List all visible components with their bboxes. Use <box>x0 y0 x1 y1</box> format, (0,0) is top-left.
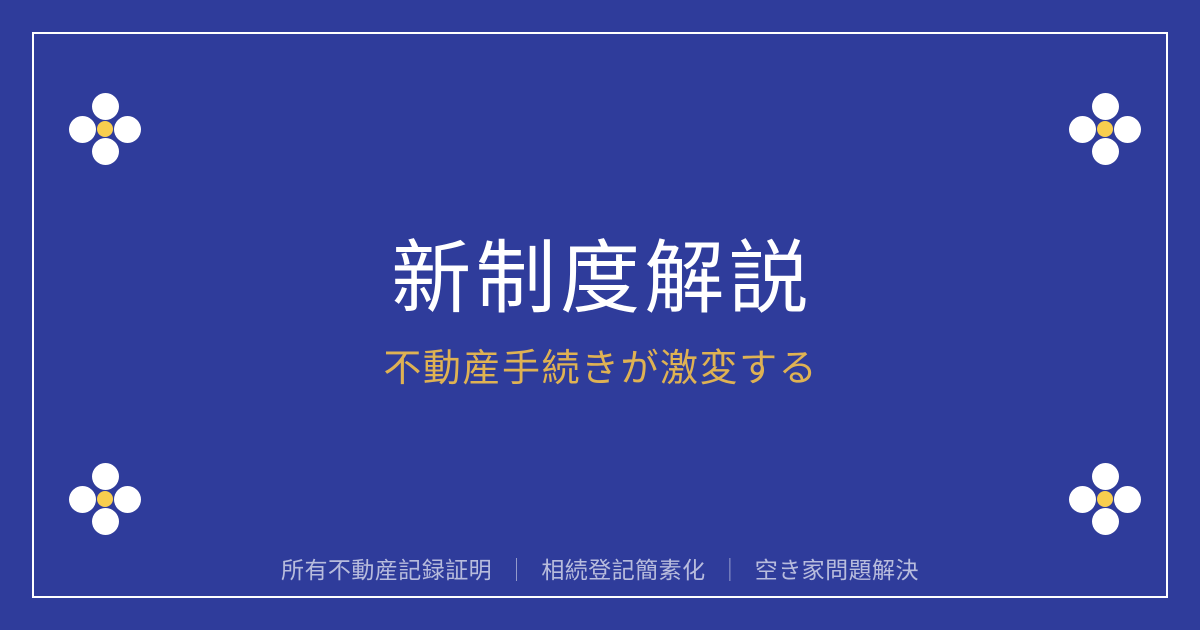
footer-keyword-1: 所有不動産記録証明 <box>281 557 492 583</box>
footer-keyword-strip: 所有不動産記録証明 ｜ 相続登記簡素化 ｜ 空き家問題解決 <box>0 556 1200 586</box>
footer-keyword-3: 空き家問題解決 <box>755 557 919 583</box>
footer-separator-1: ｜ <box>499 557 534 583</box>
page-title: 新制度解説 <box>387 237 813 321</box>
page-subtitle: 不動産手続きが激変する <box>382 347 818 393</box>
poster-canvas: 新制度解説 不動産手続きが激変する 所有不動産記録証明 ｜ 相続登記簡素化 ｜ … <box>0 0 1200 630</box>
footer-separator-2: ｜ <box>712 557 747 583</box>
title-block: 新制度解説 不動産手続きが激変する <box>0 0 1200 630</box>
footer-keyword-2: 相続登記簡素化 <box>541 557 705 583</box>
